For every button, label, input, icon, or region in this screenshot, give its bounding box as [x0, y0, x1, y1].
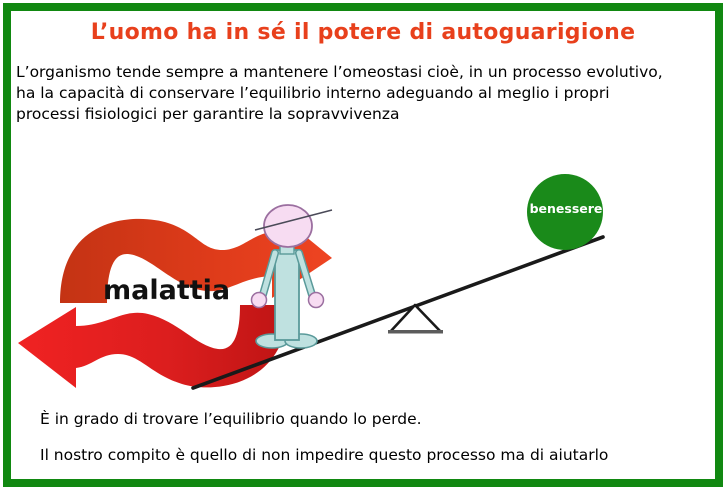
- page-title: L’uomo ha in sé il potere di autoguarigi…: [0, 20, 726, 45]
- caption-line-1: È in grado di trovare l’equilibrio quand…: [40, 410, 422, 428]
- intro-line-2: ha la capacità di conservare l’equilibri…: [16, 83, 716, 104]
- caption-line-2: Il nostro compito è quello di non impedi…: [40, 446, 608, 464]
- malattia-label: malattia: [103, 275, 230, 306]
- slide-canvas: L’uomo ha in sé il potere di autoguarigi…: [0, 0, 726, 490]
- intro-line-1: L’organismo tende sempre a mantenere l’o…: [16, 62, 716, 83]
- figure-hand-right: [309, 293, 324, 308]
- benessere-label: benessere: [526, 201, 606, 216]
- intro-paragraph: L’organismo tende sempre a mantenere l’o…: [16, 62, 716, 125]
- intro-line-3: processi fisiologici per garantire la so…: [16, 104, 716, 125]
- seesaw-fulcrum-icon: [388, 305, 443, 334]
- figure-torso: [275, 250, 299, 340]
- figure-hand-left: [252, 293, 267, 308]
- cycle-arrow-bottom-icon: [18, 305, 288, 388]
